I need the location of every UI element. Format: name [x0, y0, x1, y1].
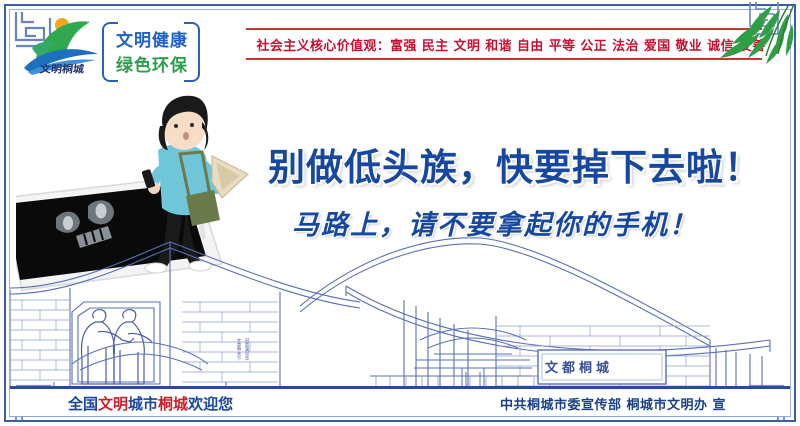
- footer-prefix: 全国: [68, 395, 98, 413]
- headline-sub: 马路上，请不要拿起你的手机！: [292, 203, 772, 242]
- couplet-right: 文章甲天下: [236, 338, 241, 380]
- footer-red-wenming: 文明: [98, 395, 128, 413]
- logo-caption: 文明桐城: [39, 62, 85, 77]
- plaque-text: 文都桐城: [545, 357, 613, 376]
- footer-red-tongcheng: 桐城: [158, 395, 188, 413]
- civility-line-2: 绿色环保: [114, 51, 190, 76]
- poster-canvas: 文明桐城 文明健康 绿色环保 社会主义核心价值观：富强 民主 文明 和谐 自由 …: [0, 0, 800, 426]
- wenming-tongcheng-logo: 文明桐城: [18, 14, 104, 76]
- civility-slogan-box: 文明健康 绿色环保: [102, 22, 200, 78]
- civility-line-1: 文明健康: [114, 26, 190, 51]
- couplet-left: 冠盖满京华: [244, 338, 249, 380]
- footer-bar: 全国文明城市桐城欢迎您 中共桐城市委宣传部 桐城市文明办 宣: [10, 386, 790, 417]
- tongcheng-architecture-lineart: [10, 236, 790, 396]
- bamboo-leaves-icon: [676, 0, 796, 80]
- footer-issuer-text: 中共桐城市委宣传部 桐城市文明办 宣: [500, 394, 726, 413]
- couplet-text: 文章甲天下 冠盖满京华: [236, 338, 270, 380]
- headline-main: 别做低头族，快要掉下去啦！: [268, 137, 768, 191]
- footer-suffix: 欢迎您: [188, 395, 233, 413]
- footer-mid: 城市: [128, 395, 158, 413]
- footer-welcome-text: 全国文明城市桐城欢迎您: [68, 393, 233, 414]
